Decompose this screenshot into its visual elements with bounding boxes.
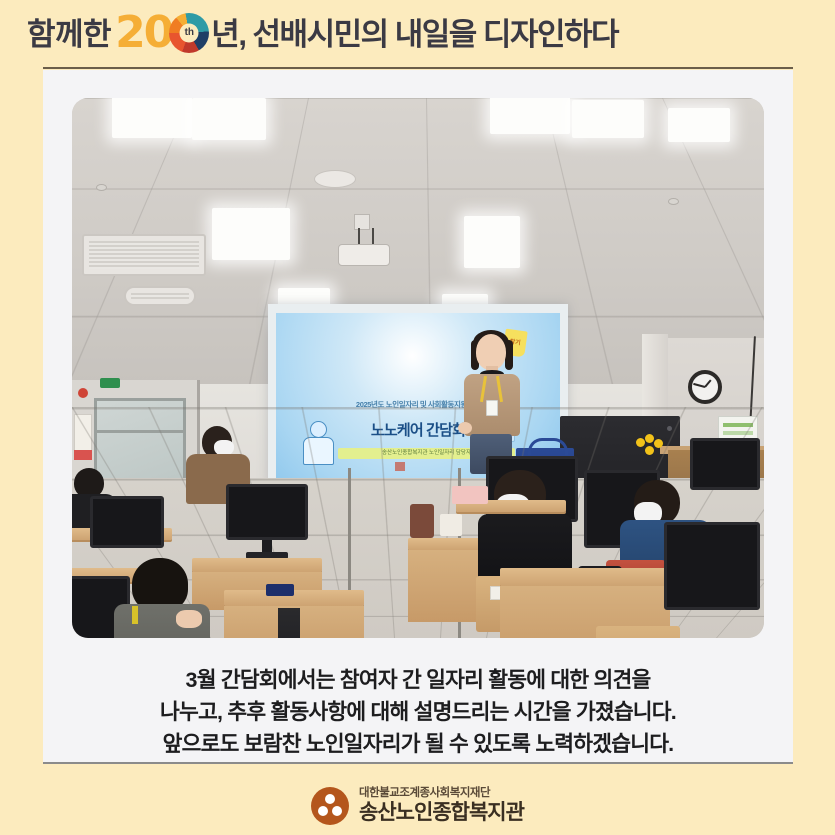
headline: 함께한 20 th 년, 선배시민의 내일을 디자인하다 bbox=[27, 12, 618, 56]
participant-lanyard bbox=[132, 606, 138, 624]
exit-sign-icon bbox=[100, 378, 120, 388]
logo-dot bbox=[325, 794, 335, 804]
footer-branding: 대한불교조계종사회복지재단 송산노인종합복지관 bbox=[0, 776, 835, 835]
presenter-head bbox=[476, 334, 506, 370]
notebook bbox=[266, 584, 294, 596]
card-news-page: 함께한 20 th 년, 선배시민의 내일을 디자인하다 bbox=[0, 0, 835, 835]
logo-dot bbox=[318, 806, 328, 816]
computer-monitor bbox=[226, 484, 308, 540]
ceiling-light-panel bbox=[572, 100, 644, 138]
logo-dot bbox=[332, 806, 342, 816]
computer-desk bbox=[500, 568, 670, 586]
computer-monitor bbox=[90, 496, 164, 548]
caption-line-2: 나누고, 추후 활동사항에 대해 설명드리는 시간을 가졌습니다. bbox=[43, 696, 793, 728]
pink-box bbox=[452, 486, 488, 504]
caption-line-3: 앞으로도 보람찬 노인일자리가 될 수 있도록 노력하겠습니다. bbox=[43, 728, 793, 760]
pc-tower bbox=[278, 608, 300, 638]
presenter-person bbox=[460, 334, 524, 474]
caption-block: 3월 간담회에서는 참여자 간 일자리 활동에 대한 의견을 나누고, 추후 활… bbox=[43, 664, 793, 760]
ceiling-light-panel bbox=[192, 98, 266, 140]
participant-person bbox=[118, 558, 228, 638]
presenter-hair-side bbox=[505, 340, 513, 370]
foundation-name: 대한불교조계종사회복지재단 bbox=[359, 788, 524, 800]
air-conditioner-vent bbox=[82, 234, 206, 276]
anniversary-ring-icon: th bbox=[169, 13, 209, 53]
organization-name-block: 대한불교조계종사회복지재단 송산노인종합복지관 bbox=[359, 788, 524, 824]
headline-text-before: 함께한 bbox=[27, 19, 111, 50]
ceiling-dome-light bbox=[314, 170, 356, 188]
participant-hands bbox=[176, 610, 202, 628]
projector-mount bbox=[354, 214, 370, 230]
ceiling-projector bbox=[338, 244, 390, 266]
ceiling-light-panel bbox=[490, 98, 570, 134]
headline-text-after: 년, 선배시민의 내일을 디자인하다 bbox=[211, 19, 618, 50]
smoke-detector-icon bbox=[96, 184, 107, 191]
ceiling-light-panel bbox=[464, 216, 520, 268]
paper-cup bbox=[440, 514, 462, 536]
content-card: 참기 2025년도 노인일자리 및 사회활동지원사업 노노케어 간담회 송산노인… bbox=[43, 70, 793, 764]
fire-alarm-icon bbox=[78, 388, 88, 398]
organization-logo: 대한불교조계종사회복지재단 송산노인종합복지관 bbox=[311, 787, 524, 825]
photo-scene: 참기 2025년도 노인일자리 및 사회활동지원사업 노노케어 간담회 송산노인… bbox=[72, 98, 764, 638]
computer-desk bbox=[224, 590, 364, 606]
anniversary-suffix: th bbox=[185, 28, 194, 38]
chair bbox=[596, 626, 680, 638]
caption-line-1: 3월 간담회에서는 참여자 간 일자리 활동에 대한 의견을 bbox=[43, 664, 793, 696]
air-diffuser bbox=[124, 286, 196, 306]
computer-monitor bbox=[664, 522, 760, 610]
header-divider-rule bbox=[43, 67, 793, 69]
samjokgu-circle-icon bbox=[311, 787, 349, 825]
wall-clock-icon bbox=[688, 370, 722, 404]
center-name: 송산노인종합복지관 bbox=[359, 802, 524, 823]
smoke-detector-icon bbox=[668, 198, 679, 205]
handbag bbox=[410, 504, 434, 538]
ceiling-light-panel bbox=[212, 208, 290, 260]
event-photo: 참기 2025년도 노인일자리 및 사회활동지원사업 노노케어 간담회 송산노인… bbox=[72, 98, 764, 638]
anniversary-20th-logo: 20 th bbox=[115, 11, 209, 55]
computer-monitor bbox=[690, 438, 760, 490]
ceiling-light-panel bbox=[112, 98, 192, 138]
anniversary-number: 20 bbox=[115, 11, 172, 55]
presenter-id-badge bbox=[486, 400, 498, 416]
presenter-hand bbox=[458, 422, 472, 434]
header-banner: 함께한 20 th 년, 선배시민의 내일을 디자인하다 bbox=[0, 0, 835, 68]
ceiling-light-panel bbox=[668, 108, 730, 142]
